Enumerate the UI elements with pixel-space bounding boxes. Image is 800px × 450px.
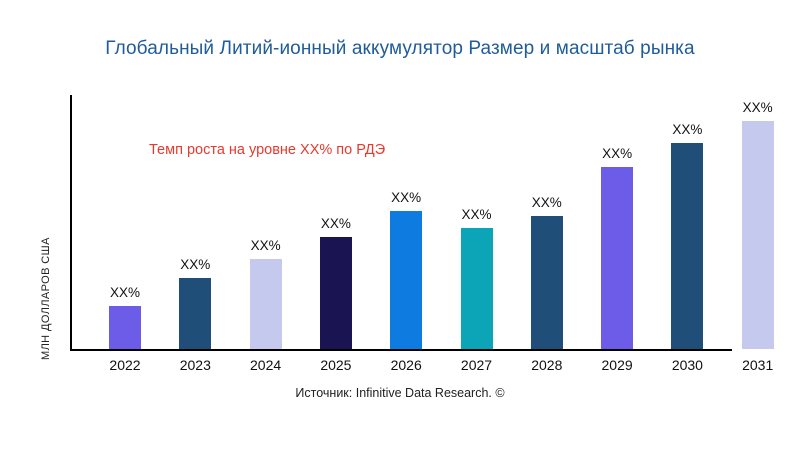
bar-2031[interactable] — [742, 121, 774, 349]
x-tick-label-2029: 2029 — [585, 357, 649, 373]
bar-2025[interactable] — [320, 237, 352, 349]
bar-group[interactable]: XX% — [320, 237, 352, 349]
bar-2023[interactable] — [179, 278, 211, 349]
bar-value-label: XX% — [730, 100, 786, 115]
x-tick-label-2024: 2024 — [234, 357, 298, 373]
chart-container: Глобальный Литий-ионный аккумулятор Разм… — [0, 0, 800, 450]
bar-group[interactable]: XX% — [179, 278, 211, 349]
bar-2026[interactable] — [390, 211, 422, 349]
x-tick-label-2025: 2025 — [304, 357, 368, 373]
x-tick-label-2030: 2030 — [655, 357, 719, 373]
bar-2024[interactable] — [250, 259, 282, 349]
bar-group[interactable]: XX% — [250, 259, 282, 349]
bar-value-label: XX% — [97, 285, 153, 300]
bar-group[interactable]: XX% — [601, 167, 633, 349]
x-tick-label-2027: 2027 — [445, 357, 509, 373]
bar-group[interactable]: XX% — [531, 216, 563, 349]
bar-value-label: XX% — [167, 257, 223, 272]
plot-area: XX%2022XX%2023XX%2024XX%2025XX%2026XX%20… — [0, 0, 800, 450]
bar-value-label: XX% — [449, 207, 505, 222]
x-tick-label-2026: 2026 — [374, 357, 438, 373]
x-tick-label-2031: 2031 — [726, 357, 790, 373]
x-tick-label-2023: 2023 — [163, 357, 227, 373]
bar-value-label: XX% — [308, 216, 364, 231]
bar-group[interactable]: XX% — [109, 306, 141, 349]
bar-value-label: XX% — [519, 195, 575, 210]
bar-2028[interactable] — [531, 216, 563, 349]
bar-value-label: XX% — [238, 238, 294, 253]
bar-2027[interactable] — [461, 228, 493, 349]
bar-group[interactable]: XX% — [461, 228, 493, 349]
bar-2022[interactable] — [109, 306, 141, 349]
bar-group[interactable]: XX% — [390, 211, 422, 349]
bar-2029[interactable] — [601, 167, 633, 349]
x-tick-label-2028: 2028 — [515, 357, 579, 373]
bar-2030[interactable] — [671, 143, 703, 349]
bar-group[interactable]: XX% — [671, 143, 703, 349]
source-note: Источник: Infinitive Data Research. © — [0, 386, 800, 400]
x-tick-label-2022: 2022 — [93, 357, 157, 373]
bar-value-label: XX% — [378, 190, 434, 205]
bar-value-label: XX% — [659, 122, 715, 137]
bar-value-label: XX% — [589, 146, 645, 161]
bar-group[interactable]: XX% — [742, 121, 774, 349]
